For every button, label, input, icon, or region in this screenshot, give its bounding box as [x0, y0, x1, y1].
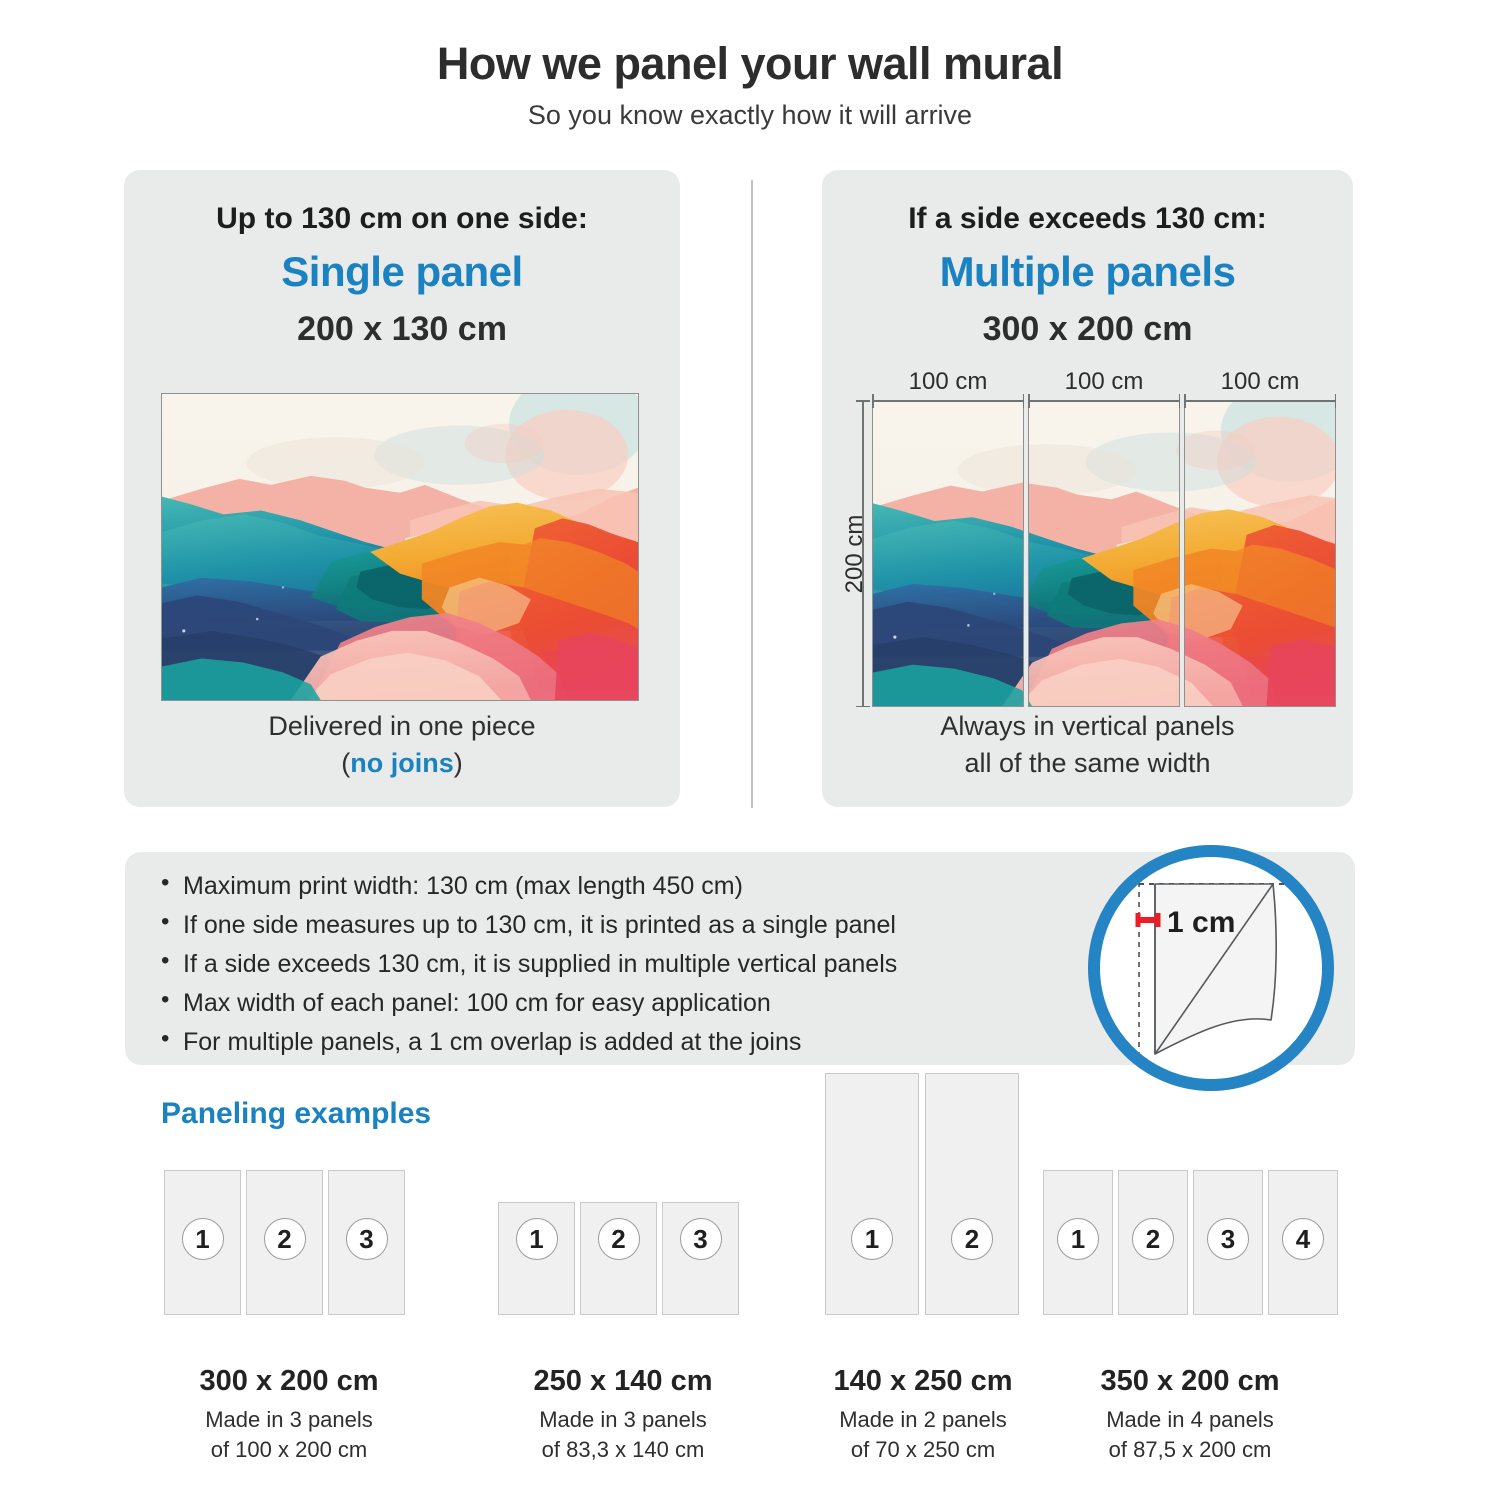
- single-panel-kicker: Up to 130 cm on one side:: [124, 202, 680, 236]
- paneling-example: 12 140 x 250 cm Made in 2 panels of 70 x…: [798, 1100, 1048, 1450]
- example-description: Made in 3 panels of 83,3 x 140 cm: [498, 1405, 748, 1465]
- single-panel-artwork: [161, 393, 639, 701]
- multiple-panels-caption-line1: Always in vertical panels: [822, 708, 1353, 745]
- example-size: 300 x 200 cm: [164, 1365, 414, 1398]
- panel-number-badge: 2: [1132, 1218, 1174, 1260]
- paneling-example: 1234 350 x 200 cm Made in 4 panels of 87…: [1065, 1100, 1315, 1450]
- single-panel-headline: Single panel: [124, 248, 680, 296]
- info-bullet-list: Maximum print width: 130 cm (max length …: [155, 874, 1115, 1069]
- single-panel-dimensions: 200 x 130 cm: [124, 310, 680, 349]
- example-panel: 1: [164, 1170, 241, 1315]
- example-panel: 3: [662, 1202, 739, 1315]
- width-dimline-1: [872, 400, 1024, 402]
- panel-number-badge: 2: [598, 1218, 640, 1260]
- example-panel: 2: [925, 1073, 1019, 1315]
- panel-number-badge: 3: [1207, 1218, 1249, 1260]
- width-label-1: 100 cm: [872, 368, 1024, 396]
- example-panel: 1: [1043, 1170, 1113, 1315]
- panel-number-badge: 1: [1057, 1218, 1099, 1260]
- example-panel: 1: [498, 1202, 575, 1315]
- panel-number-badge: 2: [951, 1218, 993, 1260]
- panel-number-badge: 1: [182, 1218, 224, 1260]
- example-panel: 3: [1193, 1170, 1263, 1315]
- overlap-label: 1 cm: [1167, 906, 1235, 939]
- example-description: Made in 2 panels of 70 x 250 cm: [798, 1405, 1048, 1465]
- example-size: 250 x 140 cm: [498, 1365, 748, 1398]
- triptych-artwork-3: [1184, 401, 1336, 706]
- triptych-artwork-1: [873, 401, 1024, 706]
- info-bullet: Max width of each panel: 100 cm for easy…: [155, 991, 1115, 1015]
- infographic-page: How we panel your wall mural So you know…: [0, 0, 1500, 1500]
- single-panel-caption: Delivered in one piece (no joins): [124, 708, 680, 782]
- panel-number-badge: 4: [1282, 1218, 1324, 1260]
- page-subtitle: So you know exactly how it will arrive: [0, 100, 1500, 131]
- example-panel: 4: [1268, 1170, 1338, 1315]
- triptych-panel-1: [872, 400, 1024, 707]
- paneling-example: 123 250 x 140 cm Made in 3 panels of 83,…: [498, 1100, 748, 1450]
- single-panel-caption-line1: Delivered in one piece: [124, 708, 680, 745]
- example-panel: 1: [825, 1073, 919, 1315]
- multiple-panels-caption: Always in vertical panels all of the sam…: [822, 708, 1353, 782]
- info-bullet: If one side measures up to 130 cm, it is…: [155, 913, 1115, 937]
- triptych-artwork-2: [1028, 401, 1180, 706]
- width-label-3: 100 cm: [1184, 368, 1336, 396]
- info-bullet: If a side exceeds 130 cm, it is supplied…: [155, 952, 1115, 976]
- triptych-panel-2: [1028, 400, 1180, 707]
- example-panel: 2: [1118, 1170, 1188, 1315]
- example-size: 350 x 200 cm: [1065, 1365, 1315, 1398]
- multiple-panels-headline: Multiple panels: [822, 248, 1353, 296]
- paneling-example: 123 300 x 200 cm Made in 3 panels of 100…: [164, 1100, 414, 1450]
- panel-number-badge: 3: [346, 1218, 388, 1260]
- panel-number-badge: 1: [851, 1218, 893, 1260]
- no-joins-accent: no joins: [350, 748, 454, 778]
- width-dimline-3: [1184, 400, 1336, 402]
- multiple-panels-kicker: If a side exceeds 130 cm:: [822, 202, 1353, 236]
- panel-number-badge: 1: [516, 1218, 558, 1260]
- height-label: 200 cm: [841, 494, 869, 614]
- page-title: How we panel your wall mural: [0, 38, 1500, 90]
- example-description: Made in 3 panels of 100 x 200 cm: [164, 1405, 414, 1465]
- overlap-diagram: 1 cm: [1085, 842, 1337, 1094]
- example-panel: 3: [328, 1170, 405, 1315]
- info-bullet: Maximum print width: 130 cm (max length …: [155, 874, 1115, 898]
- single-panel-caption-line2: (no joins): [124, 745, 680, 782]
- info-bullet: For multiple panels, a 1 cm overlap is a…: [155, 1030, 1115, 1054]
- multiple-panels-caption-line2: all of the same width: [822, 745, 1353, 782]
- example-panel: 2: [246, 1170, 323, 1315]
- multiple-panels-dimensions: 300 x 200 cm: [822, 310, 1353, 349]
- card-divider: [751, 180, 753, 808]
- width-dimline-2: [1028, 400, 1180, 402]
- example-size: 140 x 250 cm: [798, 1365, 1048, 1398]
- panel-number-badge: 3: [680, 1218, 722, 1260]
- example-description: Made in 4 panels of 87,5 x 200 cm: [1065, 1405, 1315, 1465]
- width-label-2: 100 cm: [1028, 368, 1180, 396]
- example-panel: 2: [580, 1202, 657, 1315]
- triptych-panel-3: [1184, 400, 1336, 707]
- panel-number-badge: 2: [264, 1218, 306, 1260]
